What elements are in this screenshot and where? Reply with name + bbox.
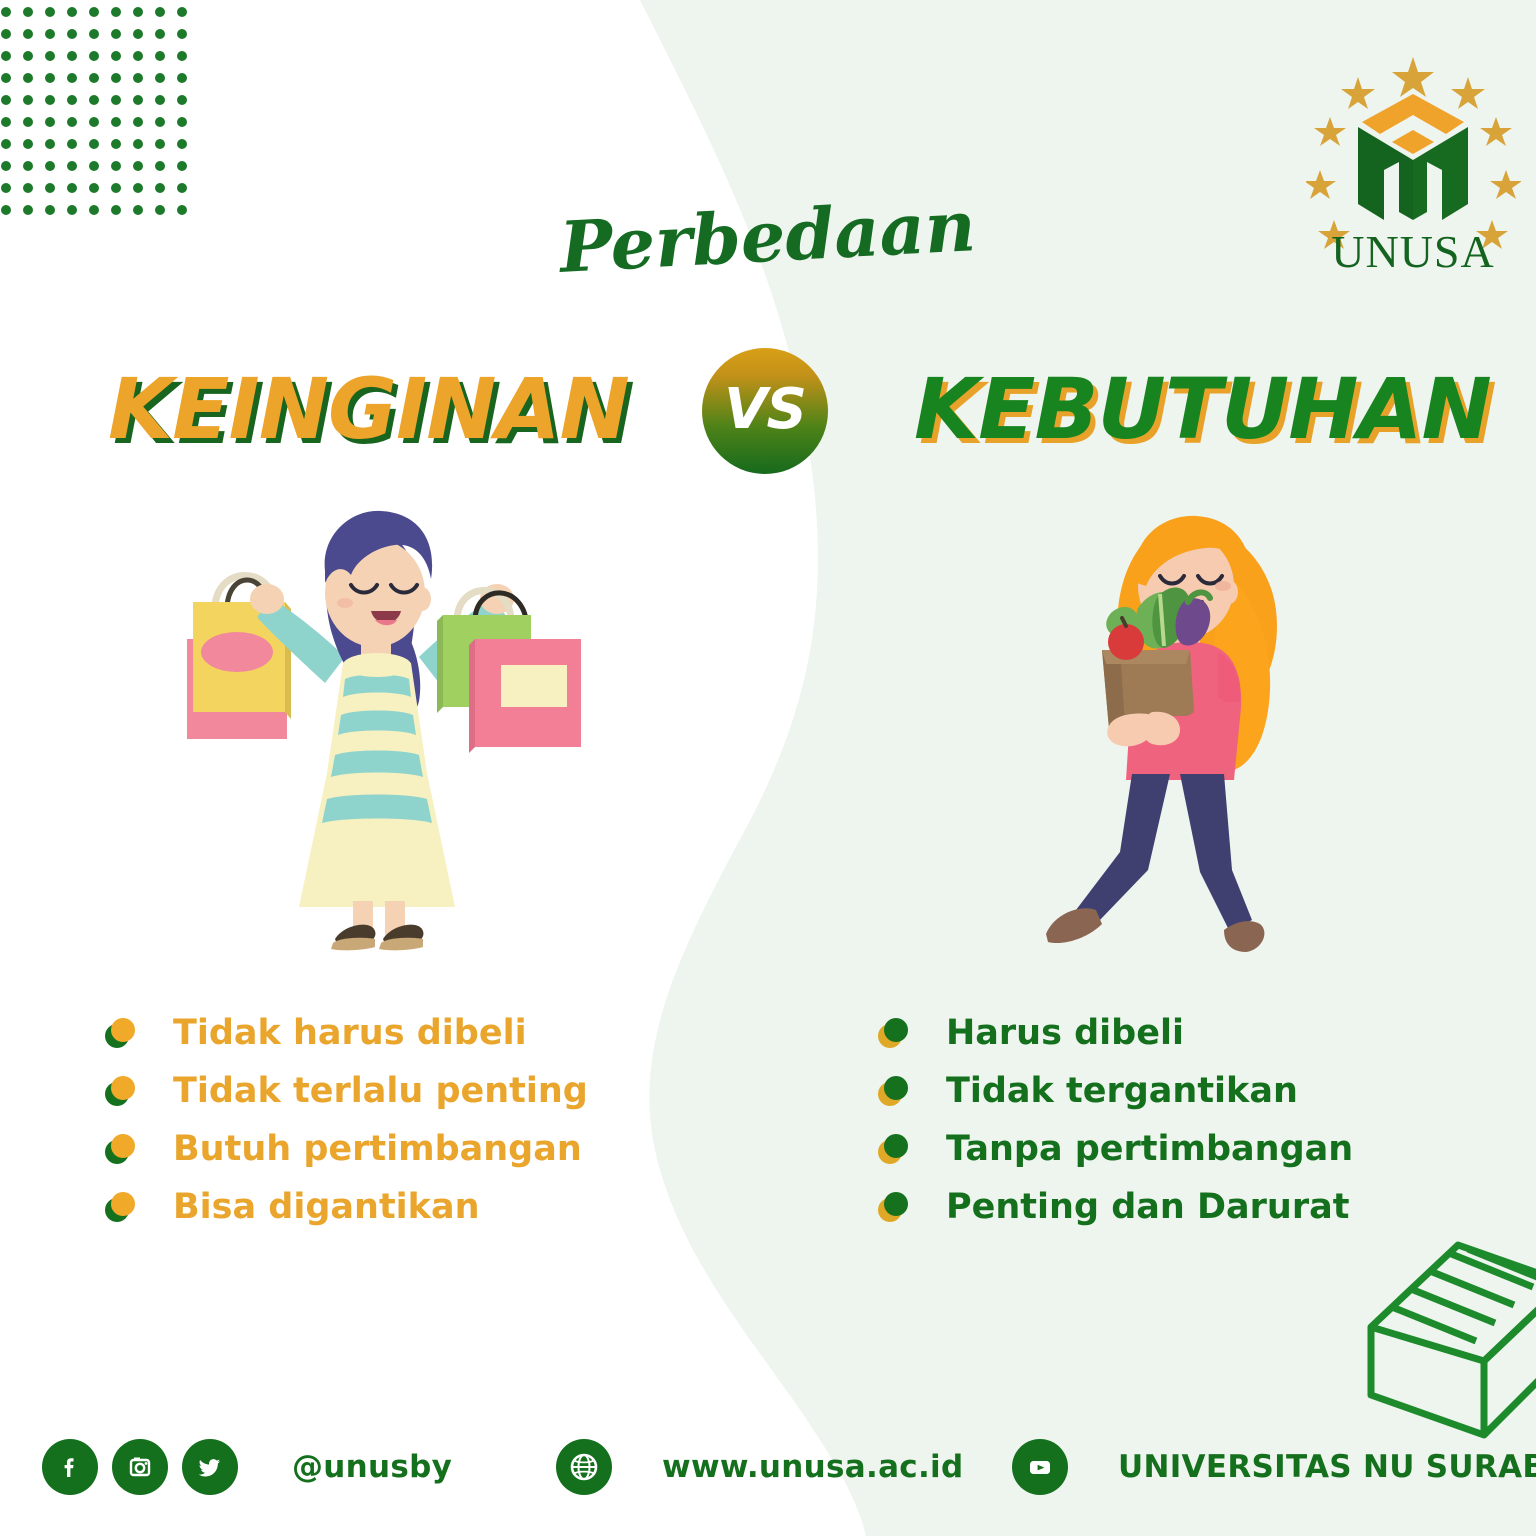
list-item: Bisa digantikan	[105, 1180, 588, 1234]
footer-youtube-group: UNIVERSITAS NU SURABAYA	[1012, 1432, 1536, 1502]
collar	[343, 653, 411, 677]
list-item: Tidak terlalu penting	[105, 1064, 588, 1118]
list-item: Tanpa pertimbangan	[878, 1122, 1353, 1176]
bullet-dot-icon	[105, 1134, 141, 1164]
institution-name: UNIVERSITAS NU SURABAYA	[1118, 1449, 1536, 1485]
heading-keinginan: KEINGINAN	[108, 355, 629, 463]
bullet-list-keinginan: Tidak harus dibeli Tidak terlalu penting…	[105, 1006, 588, 1238]
dot-grid	[0, 0, 205, 228]
blush	[337, 598, 353, 608]
vs-label: VS	[724, 377, 806, 442]
footer-social-group: @unusby	[42, 1432, 452, 1502]
globe-icon[interactable]	[556, 1439, 612, 1495]
footer-website-group: www.unusa.ac.id	[556, 1432, 963, 1502]
ear	[413, 587, 431, 611]
vs-badge: VS	[702, 348, 828, 474]
list-item-label: Penting dan Darurat	[946, 1187, 1349, 1227]
bullet-dot-icon	[878, 1192, 914, 1222]
list-item: Butuh pertimbangan	[105, 1122, 588, 1176]
list-item: Tidak harus dibeli	[105, 1006, 588, 1060]
shopping-bag-pink-right	[469, 639, 581, 753]
woman-with-shopping-bags-illustration	[175, 487, 590, 962]
logo-mark	[1358, 94, 1468, 220]
youtube-icon[interactable]	[1012, 1439, 1068, 1495]
facebook-icon[interactable]	[42, 1439, 98, 1495]
website-url: www.unusa.ac.id	[662, 1449, 963, 1485]
logo-wordmark: UNUSA	[1331, 226, 1494, 277]
woman-with-grocery-bag-illustration	[1020, 490, 1340, 960]
bullet-dot-icon	[105, 1018, 141, 1048]
striped-cube-outline-icon	[1366, 1235, 1536, 1450]
list-item-label: Tanpa pertimbangan	[946, 1129, 1353, 1169]
list-item-label: Tidak terlalu penting	[173, 1071, 588, 1111]
bullet-list-kebutuhan: Harus dibeli Tidak tergantikan Tanpa per…	[878, 1006, 1353, 1238]
bullet-dot-icon	[878, 1076, 914, 1106]
list-item: Harus dibeli	[878, 1006, 1353, 1060]
shoes	[331, 925, 423, 951]
social-handle: @unusby	[292, 1449, 452, 1485]
bullet-dot-icon	[878, 1134, 914, 1164]
legs	[1076, 774, 1252, 932]
heading-kebutuhan: KEBUTUHAN	[914, 355, 1491, 463]
list-item: Penting dan Darurat	[878, 1180, 1353, 1234]
blush	[1215, 581, 1231, 591]
list-item-label: Tidak harus dibeli	[173, 1013, 527, 1053]
bullet-dot-icon	[105, 1076, 141, 1106]
unusa-logo: UNUSA	[1306, 52, 1521, 277]
dress	[299, 657, 455, 907]
list-item-label: Tidak tergantikan	[946, 1071, 1298, 1111]
instagram-icon[interactable]	[112, 1439, 168, 1495]
bullet-dot-icon	[878, 1018, 914, 1048]
bullet-dot-icon	[105, 1192, 141, 1222]
twitter-icon[interactable]	[182, 1439, 238, 1495]
footer: @unusby www.unusa.ac.id U	[0, 1432, 1536, 1520]
poster-root: UNUSA Perbedaan KEINGINAN KEBUTUHAN VS	[0, 0, 1536, 1536]
list-item: Tidak tergantikan	[878, 1064, 1353, 1118]
list-item-label: Harus dibeli	[946, 1013, 1184, 1053]
list-item-label: Bisa digantikan	[173, 1187, 480, 1227]
list-item-label: Butuh pertimbangan	[173, 1129, 582, 1169]
